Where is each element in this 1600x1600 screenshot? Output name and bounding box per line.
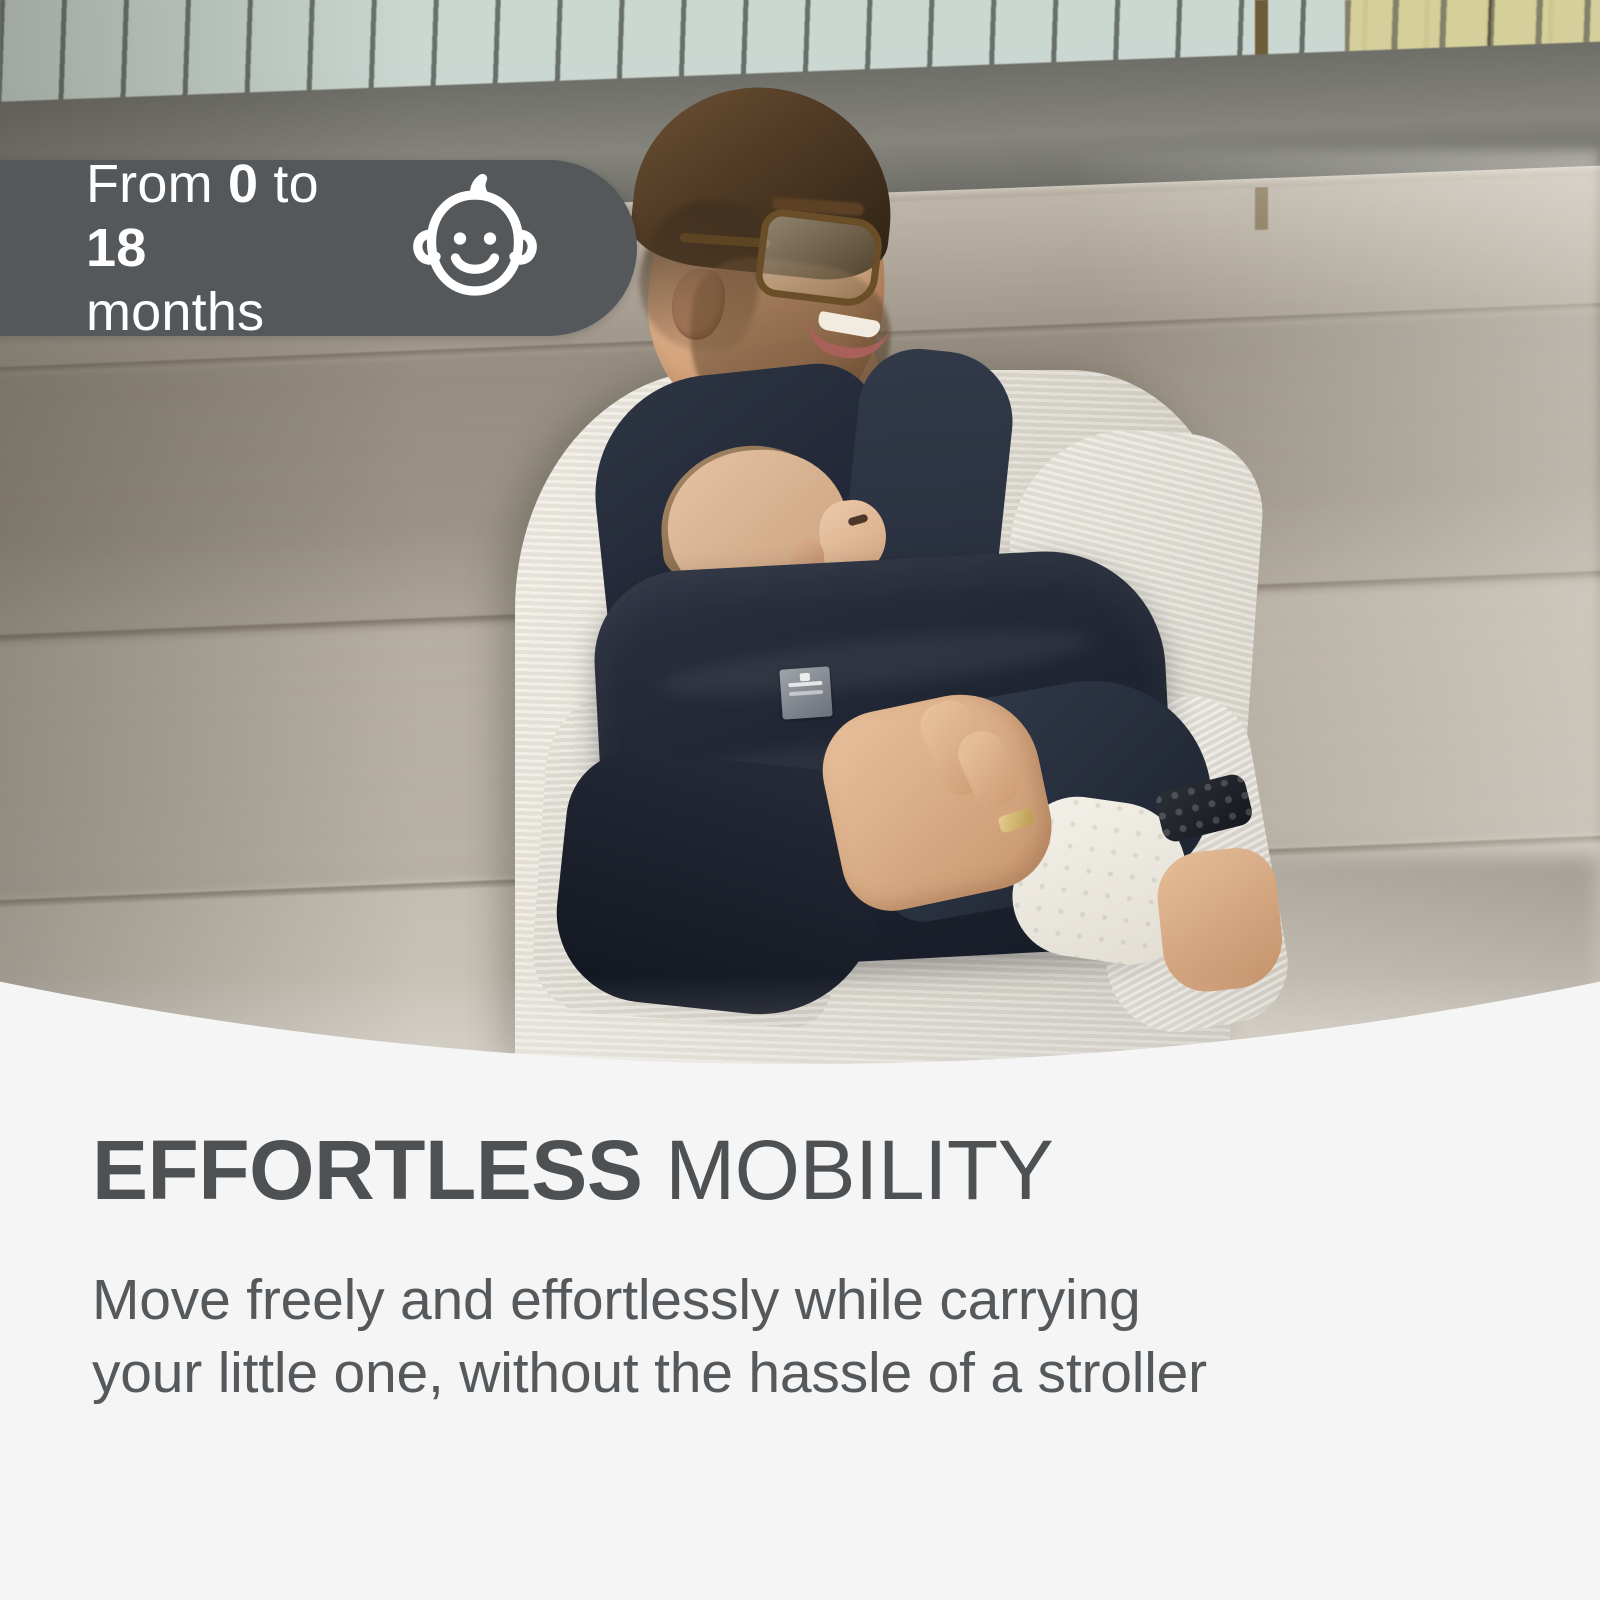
headline-bold-word: EFFORTLESS xyxy=(92,1123,642,1217)
badge-unit-text: months xyxy=(86,282,264,342)
page-subcopy: Move freely and effortlessly while carry… xyxy=(92,1264,1512,1410)
age-range-badge: From 0 to 18 months xyxy=(0,160,637,336)
subcopy-line-1: Move freely and effortlessly while carry… xyxy=(92,1268,1140,1332)
photo-bottom-fade xyxy=(0,975,1600,1065)
badge-age-min: 0 xyxy=(228,154,258,214)
product-brand-tag xyxy=(779,666,832,719)
product-feature-card: From 0 to 18 months EFFORTLESS MOBILITY … xyxy=(0,0,1600,1600)
badge-middle-text: to xyxy=(258,154,319,214)
baby-face-icon xyxy=(400,171,550,326)
badge-age-max: 18 xyxy=(86,218,146,278)
subcopy-line-2: your little one, without the hassle of a… xyxy=(92,1337,1512,1410)
mans-right-hand xyxy=(1153,844,1287,996)
text-content-section: EFFORTLESS MOBILITY Move freely and effo… xyxy=(0,1065,1600,1410)
glasses-lens xyxy=(753,207,885,309)
badge-prefix-text: From xyxy=(86,154,228,214)
age-range-label: From 0 to 18 months xyxy=(86,152,386,345)
headline-light-word: MOBILITY xyxy=(642,1123,1053,1217)
page-title: EFFORTLESS MOBILITY xyxy=(92,1128,1600,1212)
